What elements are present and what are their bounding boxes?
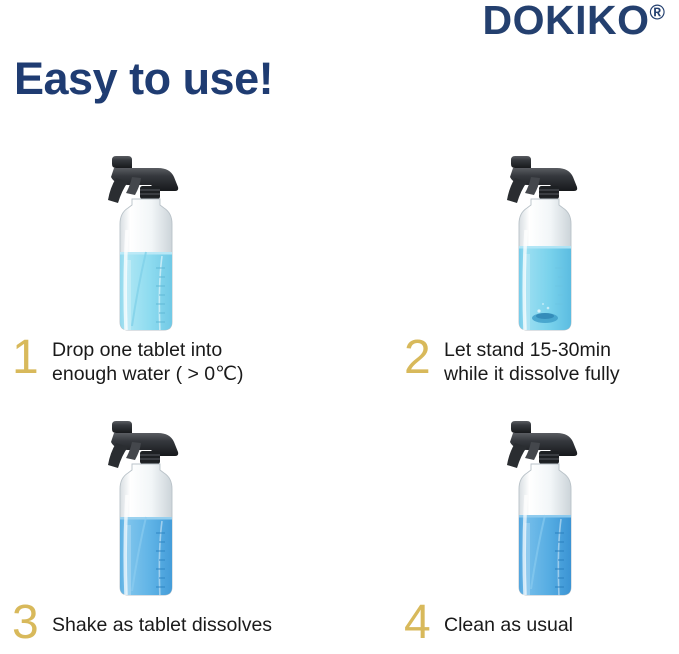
step-1-line2: enough water ( > 0℃) (52, 362, 244, 386)
brand-name: DOKIKO (483, 0, 650, 43)
trigger-sprayer (507, 421, 577, 468)
instruction-infographic: DOKIKO® Easy to use! (0, 0, 679, 654)
step-1-number: 1 (12, 336, 52, 380)
step-4-number: 4 (404, 601, 444, 645)
step-1-text: Drop one tablet into enough water ( > 0℃… (52, 336, 244, 386)
step-3-line1: Shake as tablet dissolves (52, 614, 272, 636)
step-4: 4 Clean as usual (400, 405, 679, 645)
spray-bottle-icon-2 (485, 140, 605, 340)
step-3-caption: 3 Shake as tablet dissolves (12, 601, 272, 645)
brand-logo: DOKIKO® (483, 0, 665, 43)
step-2-caption: 2 Let stand 15-30min while it dissolve f… (404, 336, 620, 386)
registered-trademark-icon: ® (650, 1, 665, 24)
spray-bottle-icon-1 (86, 140, 206, 340)
step-4-text: Clean as usual (444, 601, 573, 637)
step-2-text: Let stand 15-30min while it dissolve ful… (444, 336, 620, 386)
step-4-line1: Clean as usual (444, 614, 573, 636)
step-3: 3 Shake as tablet dissolves (8, 405, 338, 645)
trigger-sprayer (507, 156, 577, 203)
trigger-sprayer (108, 421, 178, 468)
step-1: 1 Drop one tablet into enough water ( > … (8, 140, 338, 380)
step-3-text: Shake as tablet dissolves (52, 601, 272, 637)
step-2-line2: while it dissolve fully (444, 362, 620, 386)
page-title: Easy to use! (14, 55, 273, 102)
spray-bottle-icon-4 (485, 405, 605, 605)
step-1-caption: 1 Drop one tablet into enough water ( > … (12, 336, 244, 386)
step-2-number: 2 (404, 336, 444, 380)
step-1-line1: Drop one tablet into (52, 339, 222, 361)
trigger-sprayer (108, 156, 178, 203)
step-2-line1: Let stand 15-30min (444, 339, 611, 361)
step-3-number: 3 (12, 601, 52, 645)
step-2: 2 Let stand 15-30min while it dissolve f… (400, 140, 679, 380)
step-4-caption: 4 Clean as usual (404, 601, 573, 645)
spray-bottle-icon-3 (86, 405, 206, 605)
